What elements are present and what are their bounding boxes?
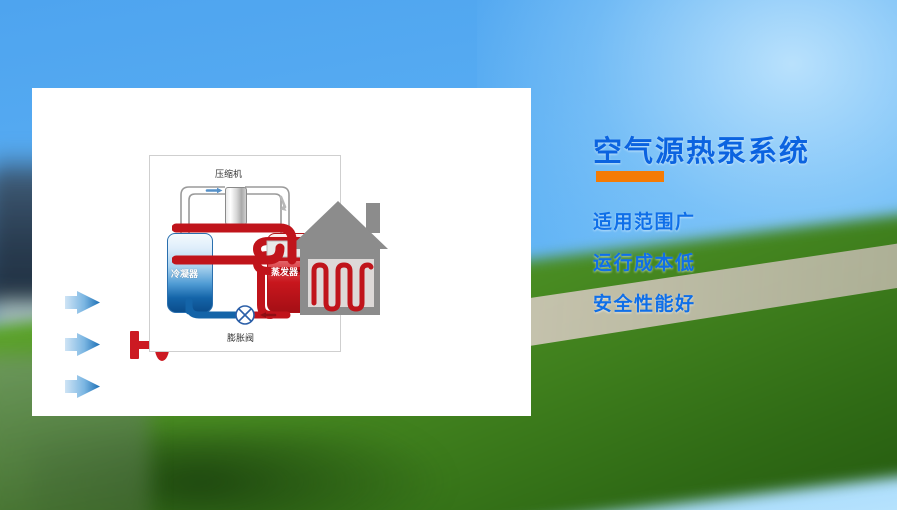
air-intake-arrow — [65, 375, 100, 398]
air-intake-arrow — [65, 333, 100, 356]
feature-item-0: 适用范围广 — [593, 207, 696, 234]
title-accent-bar — [596, 171, 664, 182]
feature-item-1: 运行成本低 — [593, 248, 696, 275]
diagram-panel: 压缩机 冷凝器 蒸发器 — [32, 88, 531, 416]
slide-canvas: 压缩机 冷凝器 蒸发器 — [0, 0, 897, 510]
page-title: 空气源热泵系统 — [593, 128, 810, 170]
expansion-valve-label: 膨胀阀 — [227, 331, 254, 344]
heating-supply-lines — [172, 216, 332, 306]
air-intake-arrow — [65, 291, 100, 314]
feature-item-2: 安全性能好 — [593, 289, 696, 316]
evaporator-label: 蒸发器 — [271, 265, 298, 278]
